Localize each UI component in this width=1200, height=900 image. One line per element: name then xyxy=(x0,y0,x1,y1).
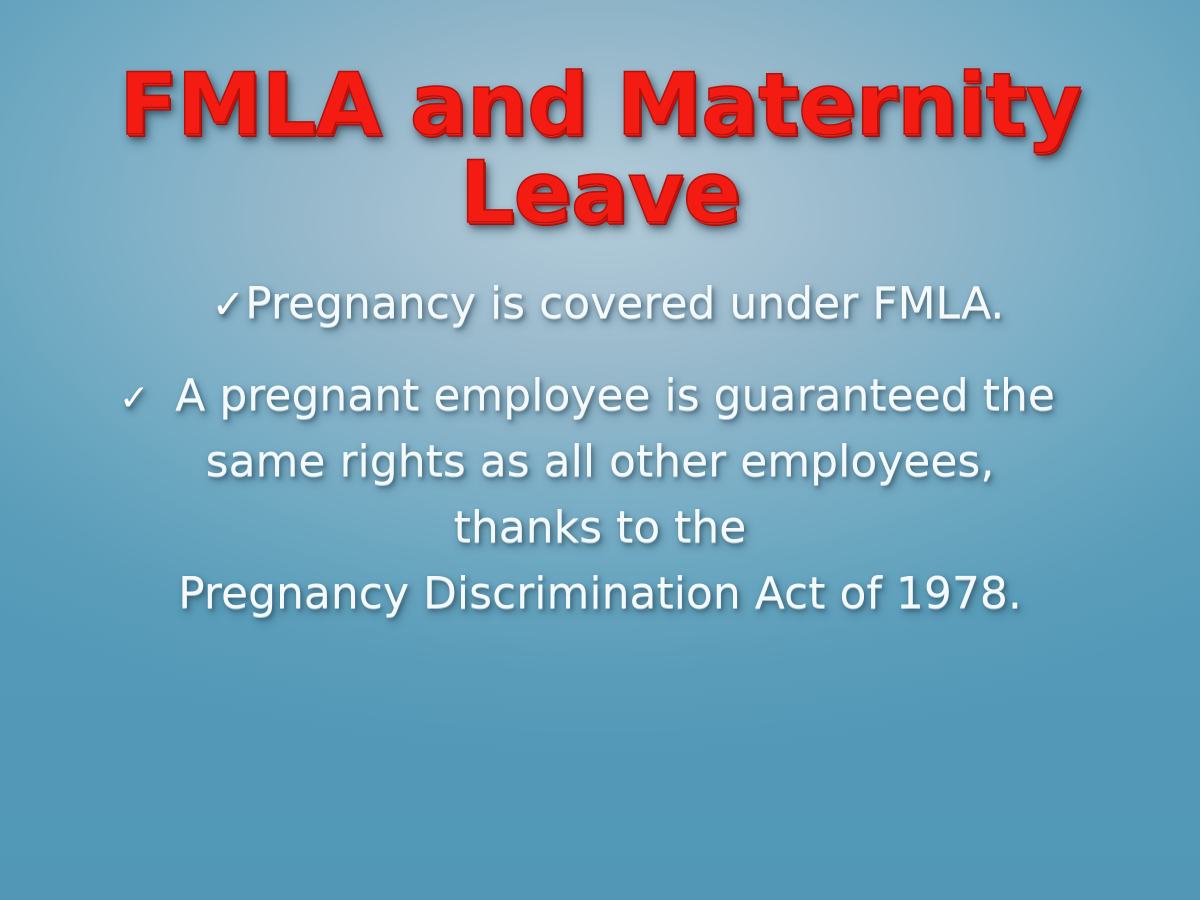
bullet-2-line-3: thanks to the xyxy=(0,506,1200,550)
bullet-1-line-1: ✓Pregnancy is covered under FMLA. xyxy=(0,282,1200,326)
presentation-slide: FMLA and Maternity Leave ✓Pregnancy is c… xyxy=(0,0,1200,900)
page-title: FMLA and Maternity Leave xyxy=(0,62,1200,237)
slide-body-content: ✓Pregnancy is covered under FMLA. ✓A pre… xyxy=(0,282,1200,616)
checkmark-icon: ✓ xyxy=(119,381,149,417)
bullet-2-text-line-4: Pregnancy Discrimination Act of 1978. xyxy=(178,568,1022,619)
bullet-2-line-4: Pregnancy Discrimination Act of 1978. xyxy=(0,572,1200,616)
bullet-2-line-1: ✓A pregnant employee is guaranteed the xyxy=(0,374,1200,418)
bullet-2-text-line-2: same rights as all other employees, xyxy=(206,436,995,487)
bullet-item-2: ✓A pregnant employee is guaranteed the s… xyxy=(0,374,1200,616)
slide-title-container: FMLA and Maternity Leave xyxy=(0,62,1200,237)
bullet-2-text-line-1: A pregnant employee is guaranteed the xyxy=(175,370,1055,421)
bullet-2-line-2: same rights as all other employees, xyxy=(0,440,1200,484)
checkmark-icon: ✓ xyxy=(212,285,246,325)
bullet-spacer xyxy=(0,326,1200,374)
bullet-1-text: Pregnancy is covered under FMLA. xyxy=(245,278,1004,329)
bullet-2-text-line-3: thanks to the xyxy=(454,502,747,553)
bullet-item-1: ✓Pregnancy is covered under FMLA. xyxy=(0,282,1200,326)
